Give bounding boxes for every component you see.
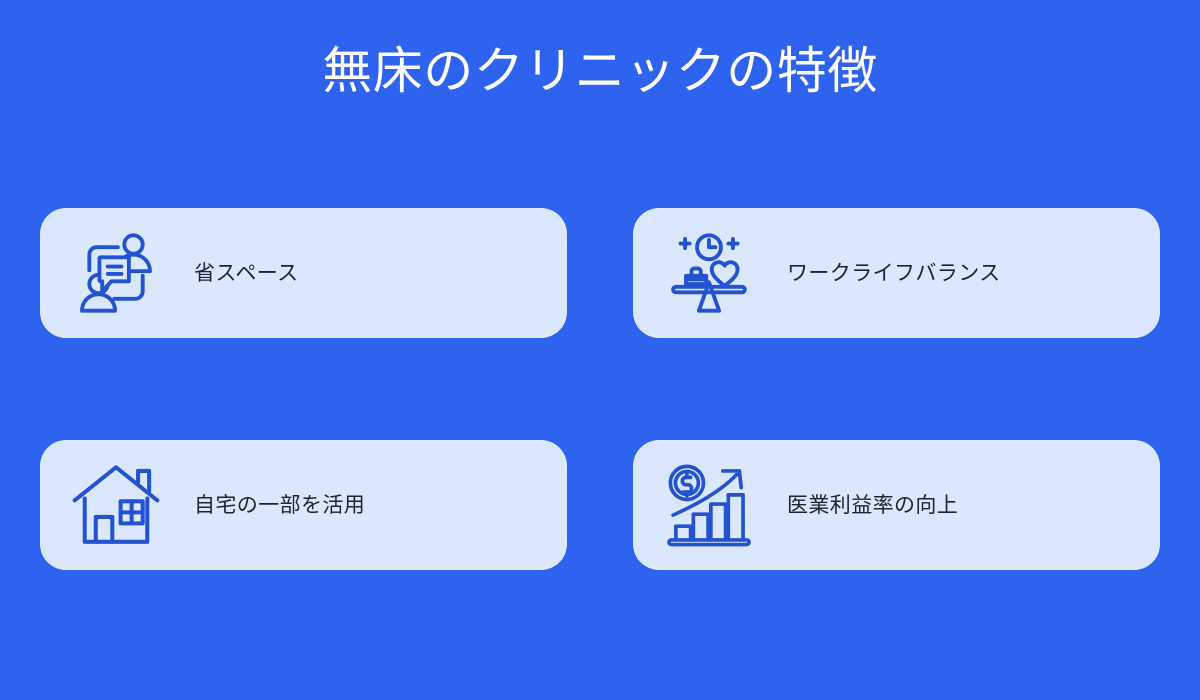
profit-growth-chart-icon [663, 459, 755, 551]
feature-card-work-life-balance[interactable]: ワークライフバランス [633, 208, 1160, 338]
people-chat-icon [70, 227, 162, 319]
feature-card-grid: 省スペース ワークライフバランス [40, 208, 1160, 570]
feature-card-space-saving[interactable]: 省スペース [40, 208, 567, 338]
house-icon [70, 459, 162, 551]
feature-card-label: 省スペース [194, 258, 298, 288]
feature-card-label: ワークライフバランス [787, 258, 1001, 288]
feature-card-profit-margin[interactable]: 医業利益率の向上 [633, 440, 1160, 570]
feature-card-label: 自宅の一部を活用 [194, 490, 365, 520]
feature-card-home-usage[interactable]: 自宅の一部を活用 [40, 440, 567, 570]
page-title: 無床のクリニックの特徴 [0, 40, 1200, 102]
work-life-balance-scale-icon [663, 227, 755, 319]
feature-card-label: 医業利益率の向上 [787, 490, 958, 520]
